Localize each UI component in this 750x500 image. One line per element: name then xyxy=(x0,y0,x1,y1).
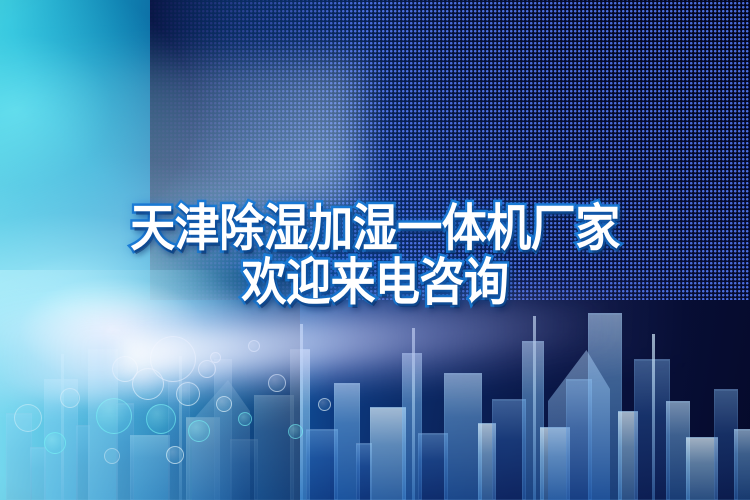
banner-image: 天津除湿加湿一体机厂家 欢迎来电咨询 xyxy=(0,0,750,500)
vignette-overlay xyxy=(0,0,750,500)
